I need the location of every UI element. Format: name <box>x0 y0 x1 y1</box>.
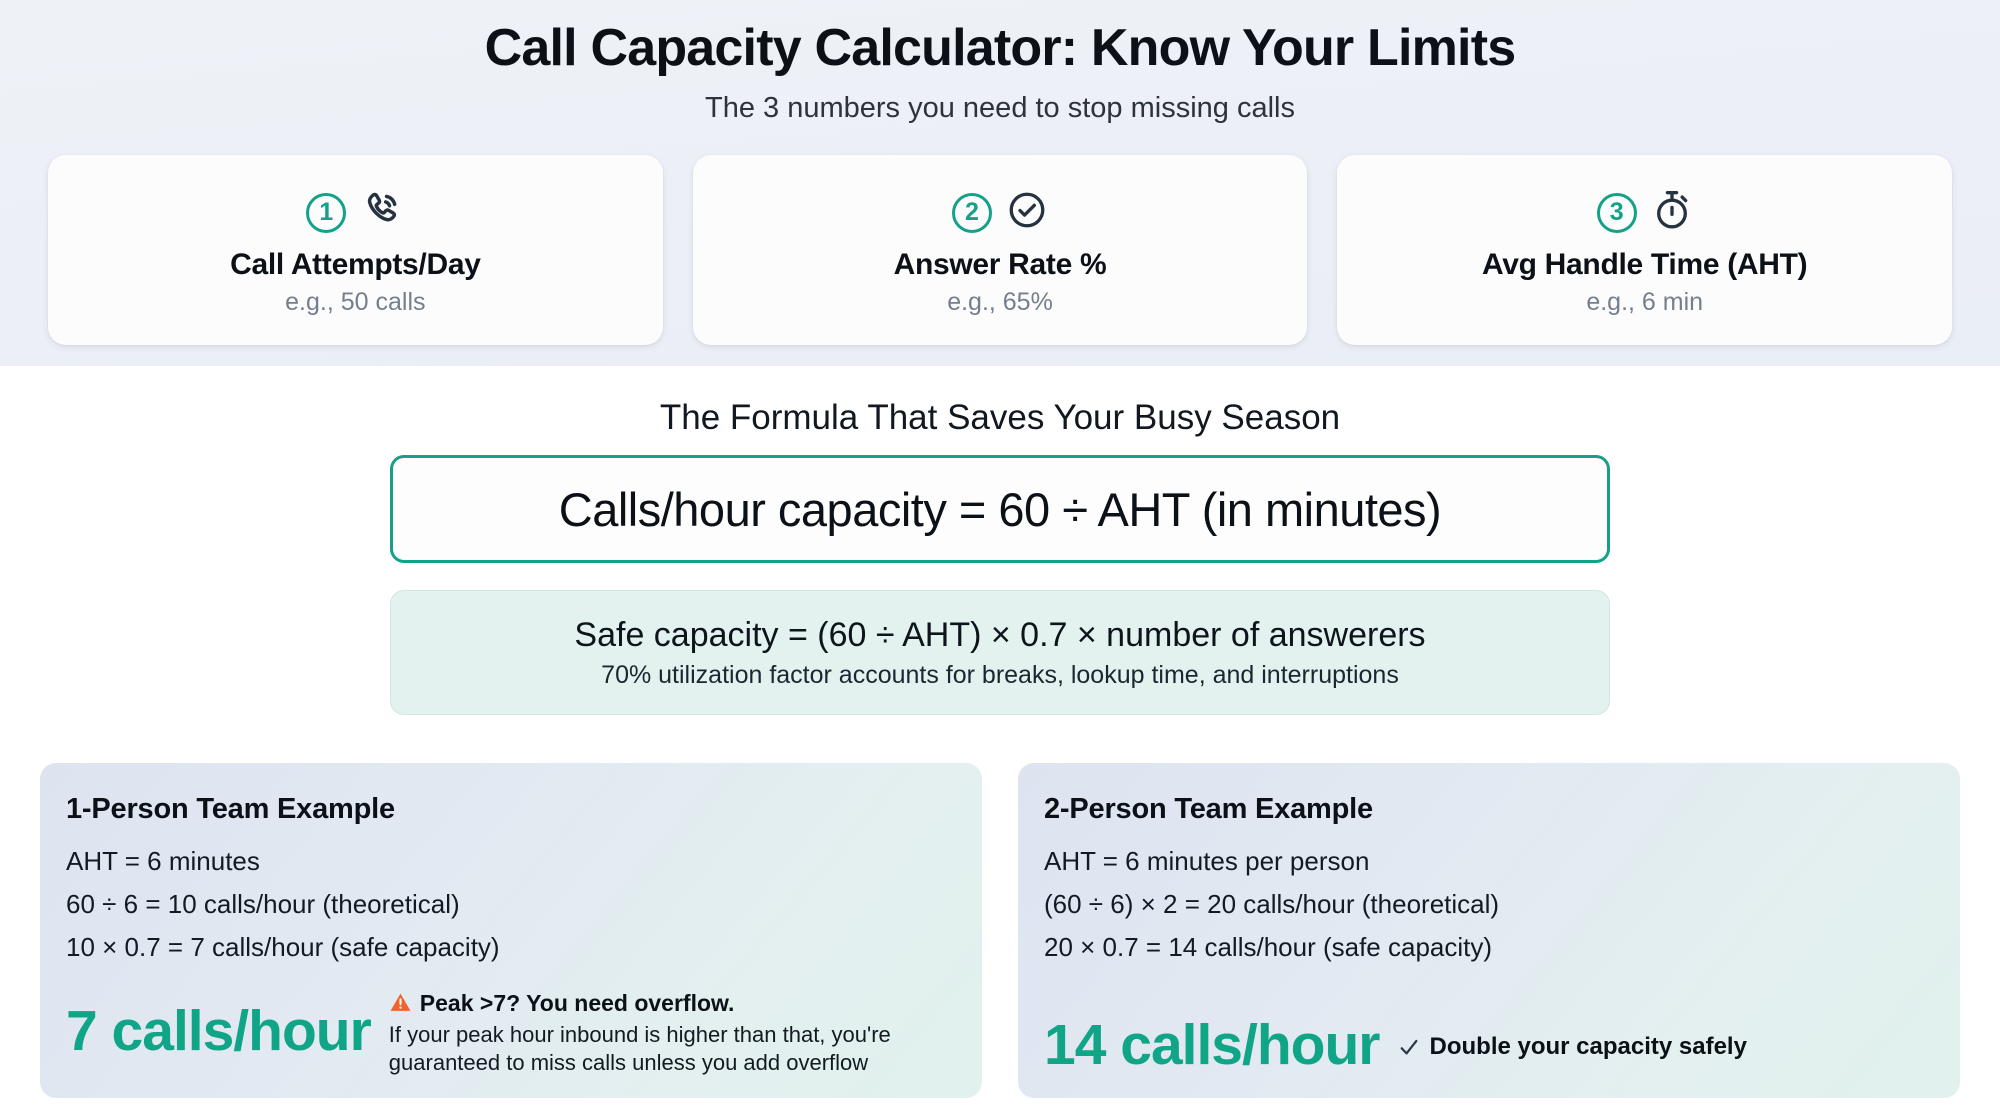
example-card-footer: 7 calls/hour Peak >7? You need overflow.… <box>66 988 956 1076</box>
example-note-heading-row: Double your capacity safely <box>1398 1033 1935 1061</box>
step-number-badge: 2 <box>952 193 992 233</box>
example-note-heading: Peak >7? You need overflow. <box>420 990 735 1017</box>
input-card-title: Answer Rate % <box>894 248 1107 282</box>
example-card-title: 2-Person Team Example <box>1044 793 1934 826</box>
example-line: AHT = 6 minutes per person <box>1044 846 1934 877</box>
step-number-badge: 3 <box>1597 193 1637 233</box>
primary-formula-box: Calls/hour capacity = 60 ÷ AHT (in minut… <box>390 455 1610 563</box>
example-card-title: 1-Person Team Example <box>66 793 956 826</box>
example-card-footer: 14 calls/hour Double your capacity safel… <box>1044 1016 1934 1076</box>
example-line: 10 × 0.7 = 7 calls/hour (safe capacity) <box>66 932 956 963</box>
example-note-heading-row: Peak >7? You need overflow. <box>389 990 956 1017</box>
example-line: 20 × 0.7 = 14 calls/hour (safe capacity) <box>1044 932 1934 963</box>
safe-capacity-formula: Safe capacity = (60 ÷ AHT) × 0.7 × numbe… <box>574 616 1425 655</box>
example-line: 60 ÷ 6 = 10 calls/hour (theoretical) <box>66 889 956 920</box>
primary-formula-text: Calls/hour capacity = 60 ÷ AHT (in minut… <box>559 482 1441 537</box>
safe-capacity-note: 70% utilization factor accounts for brea… <box>601 661 1399 690</box>
input-card-title: Avg Handle Time (AHT) <box>1482 248 1807 282</box>
stopwatch-icon <box>1651 188 1693 237</box>
page-title: Call Capacity Calculator: Know Your Limi… <box>0 18 2000 78</box>
input-card-avg-handle-time[interactable]: 3 Avg Handle Time (AHT) e.g., 6 min <box>1337 155 1952 345</box>
example-card-two-person: 2-Person Team Example AHT = 6 minutes pe… <box>1018 763 1960 1098</box>
example-cards-row: 1-Person Team Example AHT = 6 minutes 60… <box>40 763 1960 1098</box>
card-icon-group: 3 <box>1597 190 1693 236</box>
input-card-call-attempts[interactable]: 1 Call Attempts/Day e.g., 50 calls <box>48 155 663 345</box>
card-icon-group: 2 <box>952 190 1048 236</box>
input-cards-row: 1 Call Attempts/Day e.g., 50 calls 2 A <box>48 155 1952 345</box>
warning-triangle-icon <box>389 990 412 1014</box>
input-card-title: Call Attempts/Day <box>230 248 481 282</box>
card-icon-group: 1 <box>306 190 404 236</box>
example-note-block: Peak >7? You need overflow. If your peak… <box>389 988 956 1076</box>
phone-call-icon <box>360 188 404 237</box>
input-card-example: e.g., 65% <box>947 288 1053 317</box>
check-circle-icon <box>1006 189 1048 236</box>
input-card-example: e.g., 50 calls <box>285 288 425 317</box>
checkmark-icon <box>1398 1036 1420 1058</box>
example-note-block: Double your capacity safely <box>1398 1031 1935 1061</box>
step-number-badge: 1 <box>306 193 346 233</box>
example-line: AHT = 6 minutes <box>66 846 956 877</box>
example-result-value: 14 calls/hour <box>1044 1016 1380 1076</box>
example-result-value: 7 calls/hour <box>66 1002 371 1062</box>
example-card-one-person: 1-Person Team Example AHT = 6 minutes 60… <box>40 763 982 1098</box>
example-note-heading: Double your capacity safely <box>1430 1033 1747 1061</box>
formula-section-heading: The Formula That Saves Your Busy Season <box>0 398 2000 438</box>
example-note-body: If your peak hour inbound is higher than… <box>389 1021 956 1076</box>
safe-capacity-box: Safe capacity = (60 ÷ AHT) × 0.7 × numbe… <box>390 590 1610 715</box>
input-card-answer-rate[interactable]: 2 Answer Rate % e.g., 65% <box>693 155 1308 345</box>
page-subtitle: The 3 numbers you need to stop missing c… <box>0 92 2000 125</box>
input-card-example: e.g., 6 min <box>1586 288 1703 317</box>
example-line: (60 ÷ 6) × 2 = 20 calls/hour (theoretica… <box>1044 889 1934 920</box>
